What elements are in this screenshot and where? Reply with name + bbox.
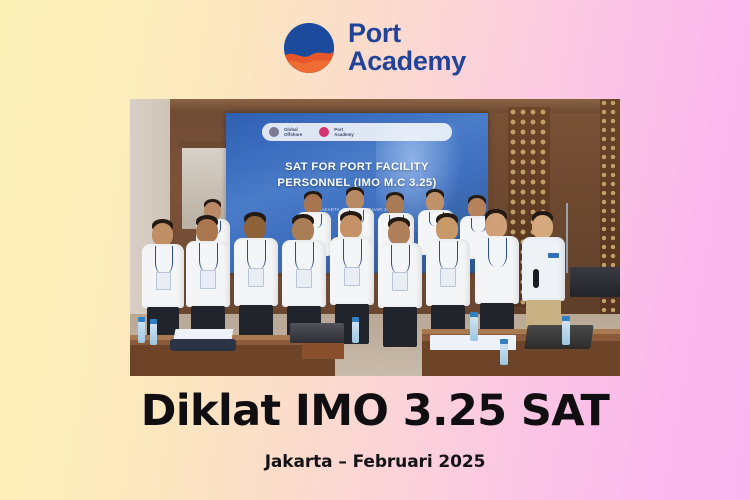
photo-water-bottle-5	[500, 343, 508, 365]
photo-ceiling-strip	[170, 99, 620, 113]
brand-line-academy: Academy	[348, 48, 466, 76]
brand-line-port: Port	[348, 20, 466, 48]
photo-laptop-right	[524, 325, 593, 349]
photo-bottle-cap-3	[352, 317, 359, 322]
global-offshore-icon	[269, 127, 279, 137]
photo-mic-stand	[566, 203, 568, 273]
photo-water-bottle-3	[352, 321, 359, 343]
poster-canvas: Port Academy Global Offshore Port Academ…	[0, 0, 750, 500]
page-title: Diklat IMO 3.25 SAT	[0, 386, 750, 436]
photo-wood-box	[302, 343, 344, 359]
photo-water-bottle-6	[562, 321, 570, 345]
banner-title-line1: SAT FOR PORT FACILITY	[234, 159, 480, 175]
photo-bottle-cap-5	[500, 339, 508, 344]
group-photo-training-participants: Global Offshore Port Academy SAT FOR POR…	[130, 99, 620, 376]
photo-bottle-cap-2	[150, 319, 157, 324]
port-academy-icon	[319, 127, 329, 137]
presenter-logo-patch	[548, 253, 559, 258]
banner-sponsor-logos: Global Offshore Port Academy	[262, 123, 452, 141]
port-academy-circle-wave-logo	[284, 23, 334, 73]
photo-water-bottle-1	[138, 321, 145, 343]
page-subtitle: Jakarta – Februari 2025	[0, 452, 750, 472]
microphone-icon	[533, 269, 539, 288]
photo-bottle-cap-6	[562, 316, 570, 321]
photo-bottle-cap-4	[470, 312, 478, 317]
brand-wordmark: Port Academy	[348, 20, 466, 75]
photo-water-bottle-2	[150, 323, 157, 345]
photo-bag-left	[170, 339, 236, 351]
photo-bottle-cap-1	[138, 317, 145, 322]
photo-projector	[290, 323, 344, 343]
photo-av-equipment-rack	[570, 267, 620, 297]
banner-logo-right-label: Port Academy	[334, 127, 354, 137]
brand-header: Port Academy	[0, 20, 750, 75]
photo-water-bottle-4	[470, 317, 478, 341]
banner-logo-left-label: Global Offshore	[284, 127, 302, 137]
